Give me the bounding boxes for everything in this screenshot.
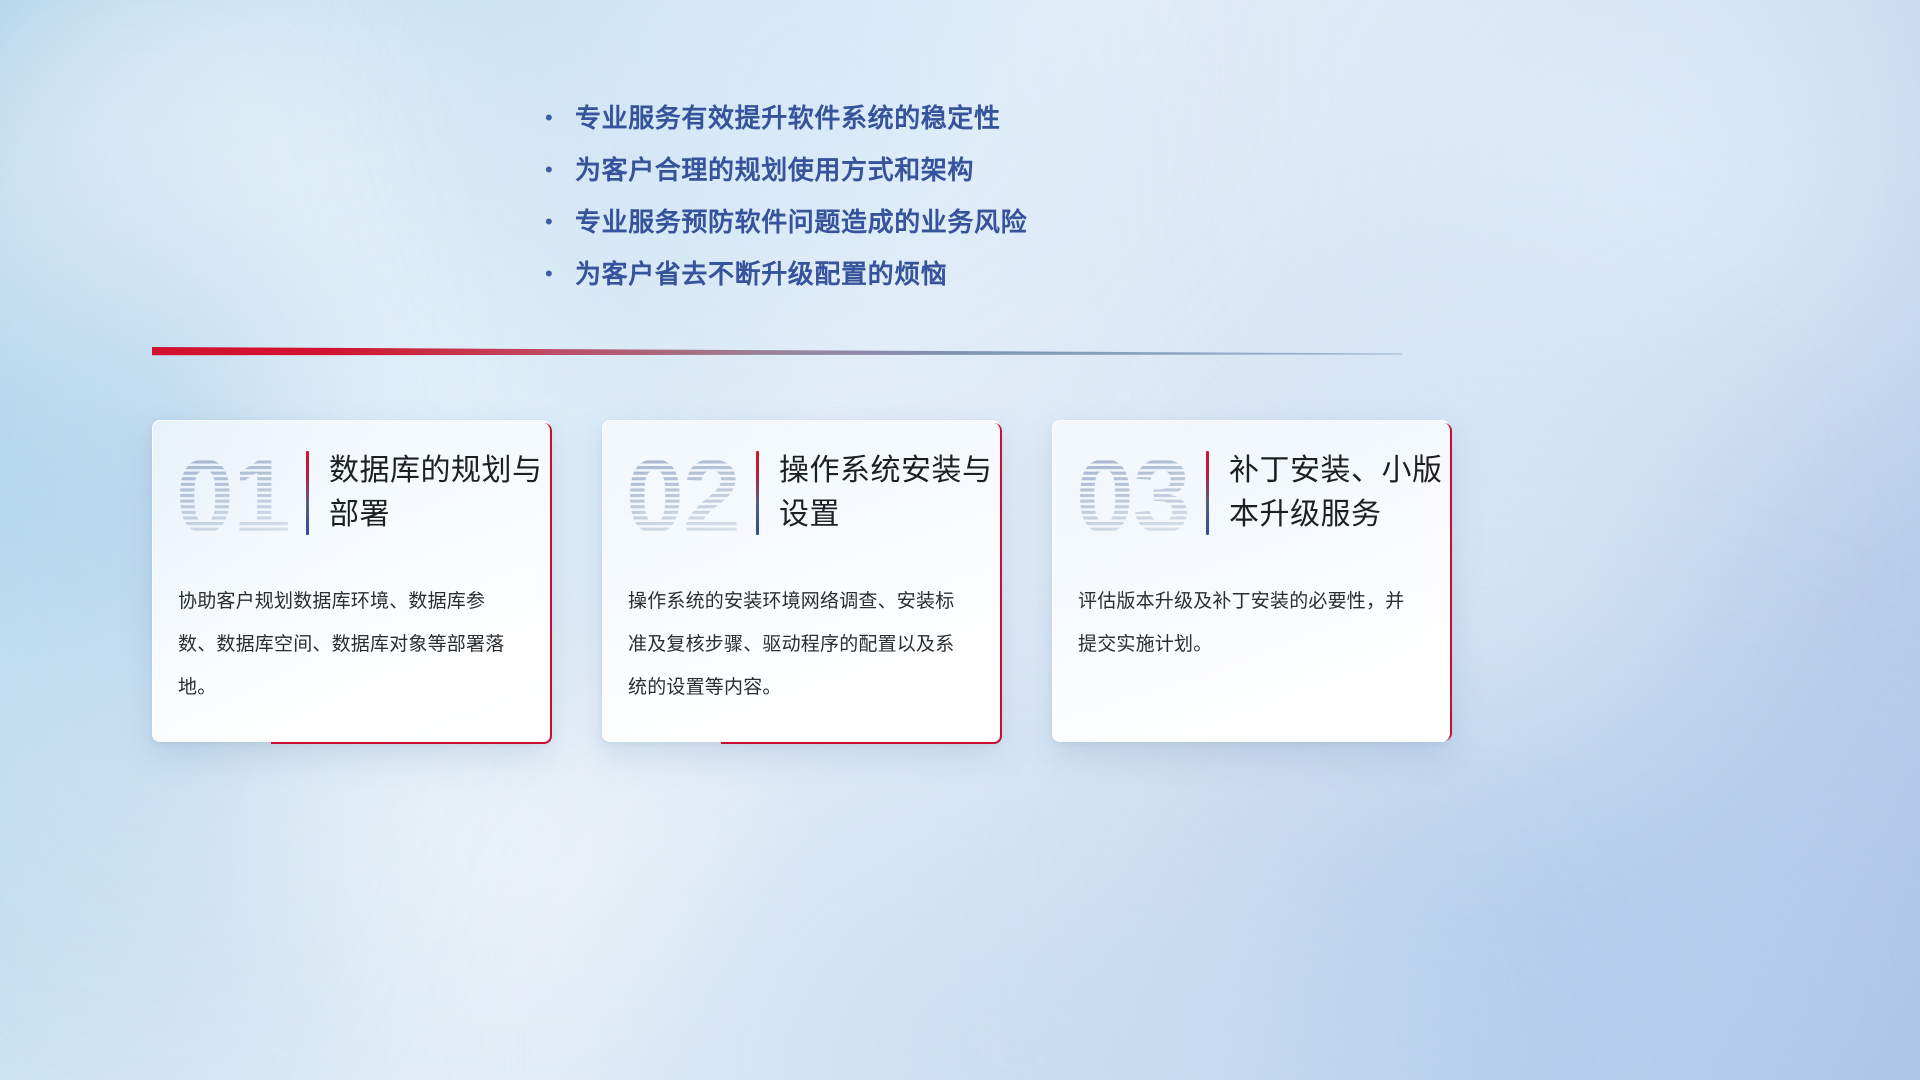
card-title: 补丁安装、小版本升级服务: [1229, 449, 1443, 537]
service-card[interactable]: 01 数据库的规划与部署 协助客户规划数据库环境、数据库参数、数据库空间、数据库…: [152, 420, 550, 742]
card-accent-bar: [756, 451, 759, 535]
bullet-marker-icon: •: [545, 144, 575, 196]
benefits-bullet-list: • 专业服务有效提升软件系统的稳定性 • 为客户合理的规划使用方式和架构 • 专…: [545, 92, 1305, 300]
card-header: 01 数据库的规划与部署: [152, 420, 550, 566]
list-item: • 专业服务预防软件问题造成的业务风险: [545, 196, 1305, 248]
bullet-text: 专业服务预防软件问题造成的业务风险: [575, 196, 1027, 248]
list-item: • 专业服务有效提升软件系统的稳定性: [545, 92, 1305, 144]
list-item: • 为客户合理的规划使用方式和架构: [545, 144, 1305, 196]
card-description: 评估版本升级及补丁安装的必要性，并提交实施计划。: [1052, 566, 1450, 666]
divider-shape-icon: [152, 344, 1402, 364]
card-description: 操作系统的安装环境网络调查、安装标准及复核步骤、驱动程序的配置以及系统的设置等内…: [602, 566, 1000, 709]
card-number-watermark: 02: [624, 438, 750, 548]
service-card[interactable]: 03 补丁安装、小版本升级服务 评估版本升级及补丁安装的必要性，并提交实施计划。: [1052, 420, 1450, 742]
bullet-marker-icon: •: [545, 248, 575, 300]
card-title: 数据库的规划与部署: [329, 449, 543, 537]
card-number-watermark: 03: [1074, 438, 1200, 548]
card-description: 协助客户规划数据库环境、数据库参数、数据库空间、数据库对象等部署落地。: [152, 566, 550, 709]
card-header: 03 补丁安装、小版本升级服务: [1052, 420, 1450, 566]
card-accent-bar: [1206, 451, 1209, 535]
bullet-text: 专业服务有效提升软件系统的稳定性: [575, 92, 1001, 144]
service-card[interactable]: 02 操作系统安装与设置 操作系统的安装环境网络调查、安装标准及复核步骤、驱动程…: [602, 420, 1000, 742]
card-accent-bar: [306, 451, 309, 535]
striped-number-icon: 03: [1074, 438, 1200, 550]
bullet-marker-icon: •: [545, 196, 575, 248]
card-header: 02 操作系统安装与设置: [602, 420, 1000, 566]
service-card-list: 01 数据库的规划与部署 协助客户规划数据库环境、数据库参数、数据库空间、数据库…: [152, 420, 1452, 746]
svg-text:02: 02: [626, 439, 740, 550]
bullet-text: 为客户省去不断升级配置的烦恼: [575, 248, 947, 300]
svg-text:03: 03: [1076, 439, 1190, 550]
section-divider: [152, 344, 1402, 364]
svg-text:01: 01: [176, 439, 290, 550]
striped-number-icon: 02: [624, 438, 750, 550]
card-number-watermark: 01: [174, 438, 300, 548]
list-item: • 为客户省去不断升级配置的烦恼: [545, 248, 1305, 300]
bullet-text: 为客户合理的规划使用方式和架构: [575, 144, 974, 196]
bullet-marker-icon: •: [545, 92, 575, 144]
card-title: 操作系统安装与设置: [779, 449, 993, 537]
striped-number-icon: 01: [174, 438, 300, 550]
